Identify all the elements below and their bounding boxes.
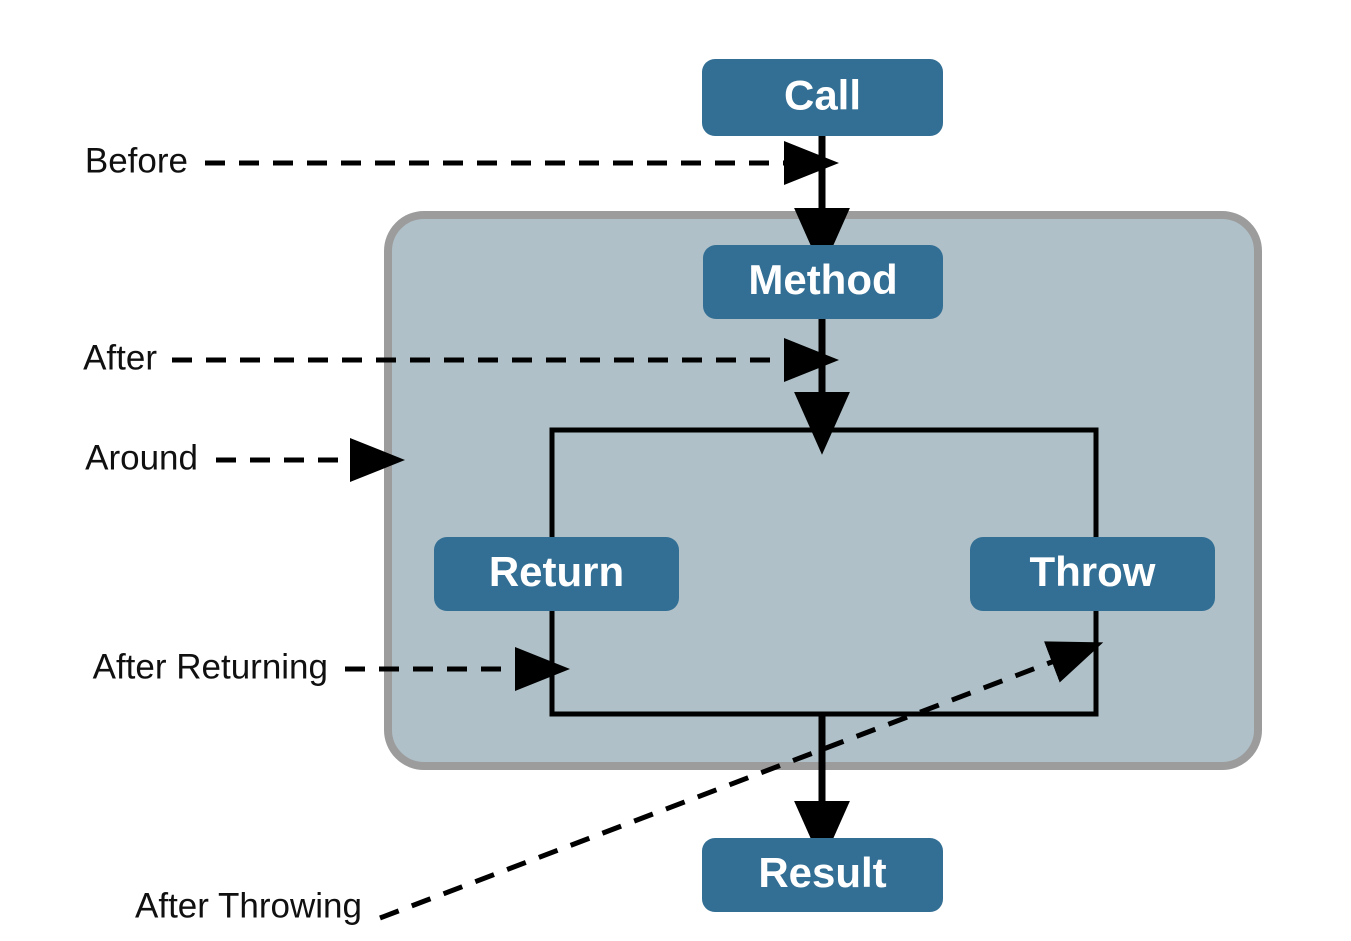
advice-label-around: Around [85, 438, 198, 477]
aop-advice-diagram: Before After Around After Returning Afte… [0, 0, 1351, 941]
node-result-label: Result [758, 849, 886, 896]
node-call-label: Call [784, 72, 861, 119]
advice-labels: Before After Around After Returning Afte… [83, 141, 362, 925]
advice-label-after: After [83, 338, 157, 377]
node-result[interactable]: Result [702, 838, 943, 912]
node-return[interactable]: Return [434, 537, 679, 611]
node-return-label: Return [489, 548, 624, 595]
node-call[interactable]: Call [702, 59, 943, 136]
node-throw-label: Throw [1030, 548, 1156, 595]
advice-label-before: Before [85, 141, 188, 180]
advice-label-after-throwing: After Throwing [135, 886, 362, 925]
node-method-label: Method [748, 256, 897, 303]
diagram-canvas: Before After Around After Returning Afte… [0, 0, 1351, 941]
advice-label-after-returning: After Returning [93, 647, 328, 686]
node-method[interactable]: Method [703, 245, 943, 319]
node-throw[interactable]: Throw [970, 537, 1215, 611]
